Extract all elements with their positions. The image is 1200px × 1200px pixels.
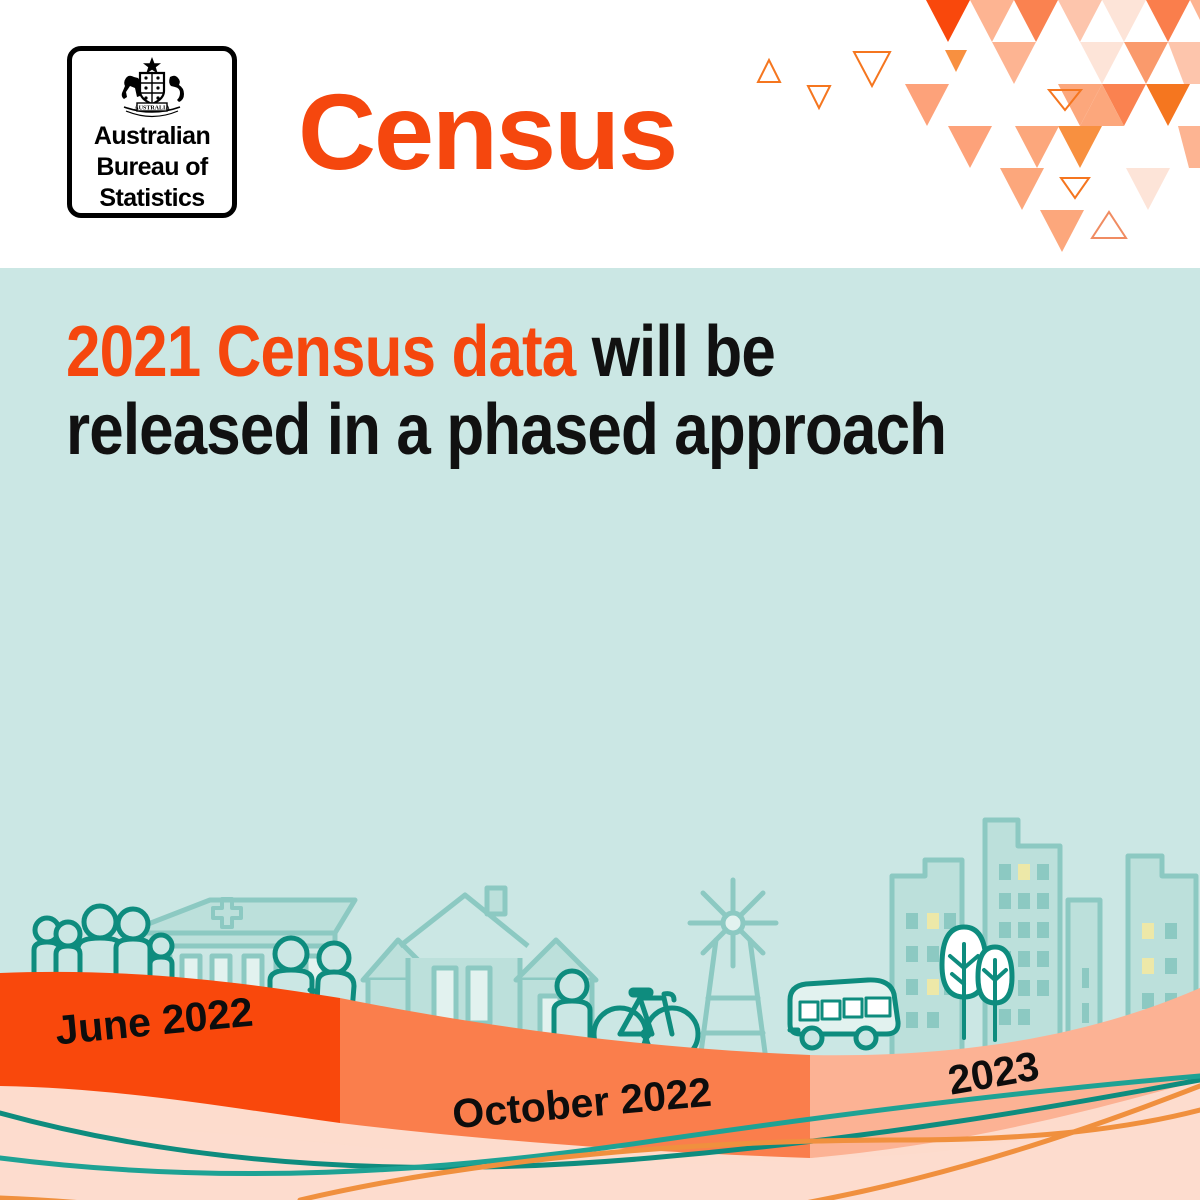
header-bar: AUSTRALIA Australian Bureau of Statistic… [0, 0, 1200, 268]
infographic-canvas: AUSTRALIA Australian Bureau of Statistic… [0, 0, 1200, 1200]
australian-coat-of-arms-icon: AUSTRALIA [104, 55, 200, 125]
triangle-pattern [740, 0, 1200, 268]
windmill-icon [690, 880, 776, 1060]
logo-line-1: Australian [72, 121, 232, 152]
abs-logo: AUSTRALIA Australian Bureau of Statistic… [67, 46, 237, 218]
abs-logo-text: Australian Bureau of Statistics [72, 121, 232, 214]
crest-caption: AUSTRALIA [134, 106, 170, 112]
logo-line-3: Statistics [72, 183, 232, 214]
logo-line-2: Bureau of [72, 152, 232, 183]
bus-icon [790, 980, 898, 1048]
content-panel: 2021 Census data will be released in a p… [0, 268, 1200, 1200]
census-wordmark: Census [298, 78, 676, 186]
